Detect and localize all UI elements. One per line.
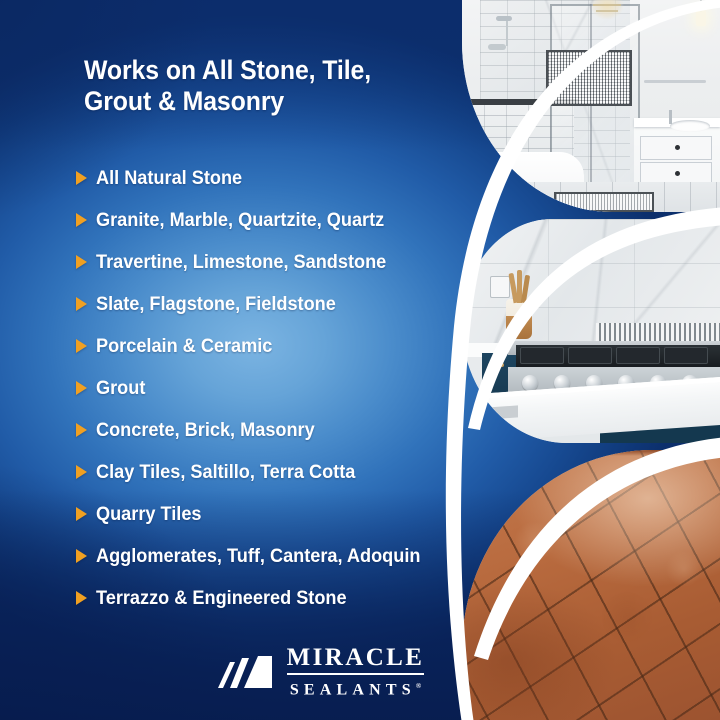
triangle-bullet-icon xyxy=(76,171,87,185)
floor-top-shadow xyxy=(462,450,720,456)
chandelier-arm-upper xyxy=(593,4,621,6)
utensil-crock xyxy=(506,299,532,339)
list-item: Agglomerates, Tuff, Cantera, Adoquin xyxy=(76,535,476,577)
tile-mottling xyxy=(462,450,720,720)
triangle-bullet-icon xyxy=(76,213,87,227)
list-item-label: Granite, Marble, Quartzite, Quartz xyxy=(96,210,384,230)
triangle-bullet-icon xyxy=(76,255,87,269)
brand-secondary-text: SEALANTS xyxy=(290,681,416,698)
triangle-bullet-icon xyxy=(76,507,87,521)
range-control-knob xyxy=(522,375,538,391)
list-item-label: Quarry Tiles xyxy=(96,504,202,524)
wooden-utensils xyxy=(510,271,530,303)
brand-divider-rule xyxy=(287,673,425,675)
burner-grate xyxy=(568,347,612,364)
list-item: Quarry Tiles xyxy=(76,493,476,535)
list-item-label: All Natural Stone xyxy=(96,168,242,188)
hand-shower-head-icon xyxy=(488,44,506,50)
cabinet-handle xyxy=(488,363,504,367)
list-item-label: Concrete, Brick, Masonry xyxy=(96,420,315,440)
burner-grate xyxy=(520,347,564,364)
brand-name-primary: MIRACLE xyxy=(287,645,425,671)
kitchen-range-photo xyxy=(462,219,720,443)
vanity-faucet xyxy=(669,110,672,124)
brand-name-secondary: SEALANTS® xyxy=(287,678,425,698)
triangle-bullet-icon xyxy=(76,465,87,479)
terracotta-floor-photo xyxy=(462,450,720,720)
shower-arm xyxy=(506,18,508,46)
wall-outlet xyxy=(490,276,510,298)
drawer-knob-icon xyxy=(675,171,680,176)
list-item: Grout xyxy=(76,367,476,409)
mosaic-niche-panel xyxy=(546,50,632,106)
list-item-label: Grout xyxy=(96,378,145,398)
burner-grate xyxy=(616,347,660,364)
wall-sconce-light xyxy=(696,10,706,26)
list-item-label: Porcelain & Ceramic xyxy=(96,336,272,356)
mosaic-floor-inlay xyxy=(554,192,654,212)
triangle-bullet-icon xyxy=(76,549,87,563)
triangle-bullet-icon xyxy=(76,591,87,605)
photo-column xyxy=(468,0,720,720)
triangle-bullet-icon xyxy=(76,423,87,437)
list-item: Terrazzo & Engineered Stone xyxy=(76,577,476,619)
triangle-bullet-icon xyxy=(76,381,87,395)
triangle-bullet-icon xyxy=(76,339,87,353)
chandelier-arm-lower xyxy=(596,10,618,12)
list-item-label: Terrazzo & Engineered Stone xyxy=(96,588,347,608)
triangle-bullet-icon xyxy=(76,297,87,311)
list-item: Travertine, Limestone, Sandstone xyxy=(76,241,476,283)
utensil xyxy=(521,275,530,303)
brand-logo: MIRACLE SEALANTS® xyxy=(0,645,468,698)
marble-bathroom-scene xyxy=(462,0,720,212)
list-item: Porcelain & Ceramic xyxy=(76,325,476,367)
list-item-label: Agglomerates, Tuff, Cantera, Adoquin xyxy=(96,546,420,566)
headline-line-2: Grout & Masonry xyxy=(84,86,434,117)
list-item-label: Clay Tiles, Saltillo, Terra Cotta xyxy=(96,462,355,482)
burner-grate xyxy=(664,347,708,364)
three-peaks-mark-icon xyxy=(216,656,276,688)
list-item: Granite, Marble, Quartzite, Quartz xyxy=(76,199,476,241)
page-title: Works on All Stone, Tile, Grout & Masonr… xyxy=(84,55,434,117)
rain-shower-head-icon xyxy=(496,16,512,21)
list-item: Clay Tiles, Saltillo, Terra Cotta xyxy=(76,451,476,493)
headline-line-1: Works on All Stone, Tile, xyxy=(84,55,371,85)
list-item: Slate, Flagstone, Fieldstone xyxy=(76,283,476,325)
marble-bathroom-photo xyxy=(462,0,720,212)
list-item: All Natural Stone xyxy=(76,157,476,199)
trademark-symbol: ® xyxy=(416,682,421,690)
range-vent-grille xyxy=(596,323,720,341)
surface-list: All Natural Stone Granite, Marble, Quart… xyxy=(76,157,476,619)
vanity-sink xyxy=(670,120,710,132)
kitchen-scene xyxy=(462,219,720,443)
infographic-canvas: Works on All Stone, Tile, Grout & Masonr… xyxy=(0,0,720,720)
list-item-label: Slate, Flagstone, Fieldstone xyxy=(96,294,336,314)
towel-bar xyxy=(644,80,706,83)
list-item-label: Travertine, Limestone, Sandstone xyxy=(96,252,386,272)
terracotta-floor-scene xyxy=(462,450,720,720)
list-item: Concrete, Brick, Masonry xyxy=(76,409,476,451)
drawer-knob-icon xyxy=(675,145,680,150)
